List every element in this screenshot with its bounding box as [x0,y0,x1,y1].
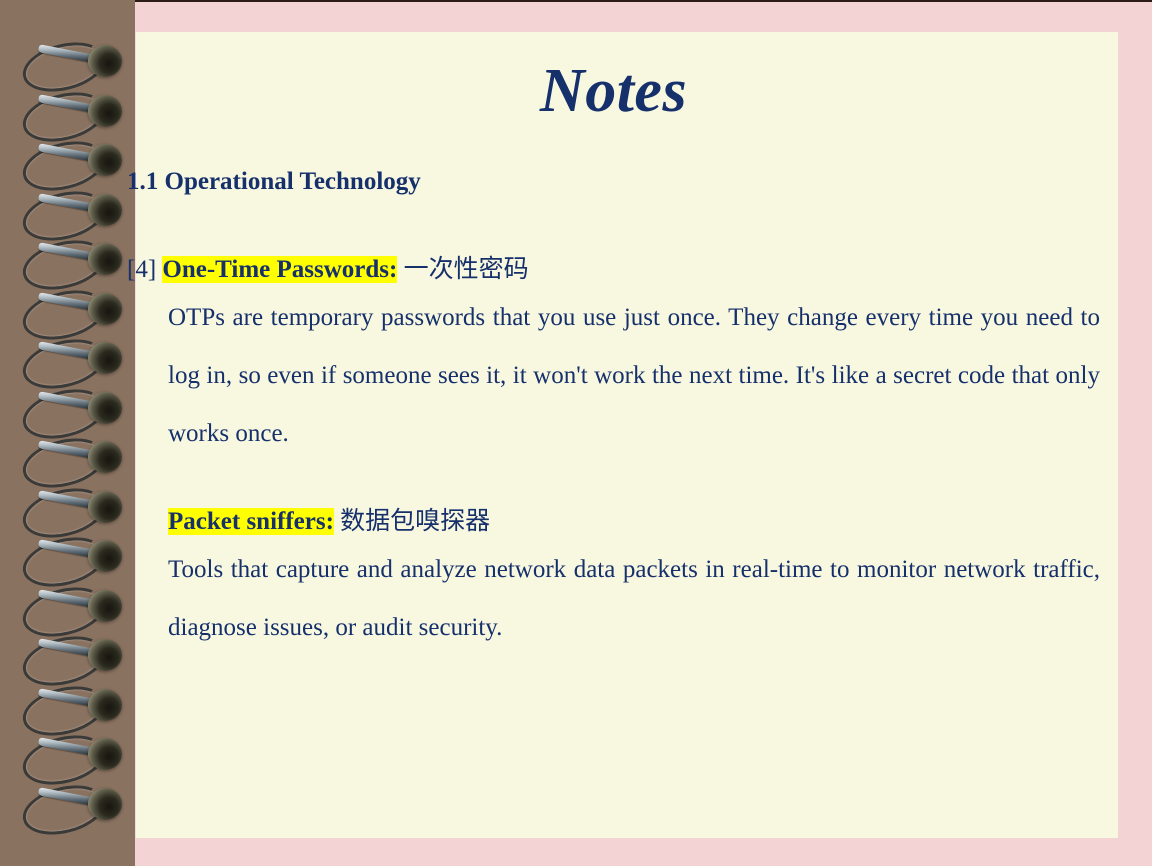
top-rule [0,0,1152,2]
term-entry-2: Packet sniffers: 数据包嗅探器 [127,463,1100,537]
section-heading: 1.1 Operational Technology [127,122,1100,196]
term-body-2: Tools that capture and analyze network d… [127,537,1100,657]
term-zh-1: 一次性密码 [404,256,529,283]
notebook-spine [0,0,135,866]
term-en-1: One-Time Passwords [162,256,389,283]
term-entry-1: [4] One-Time Passwords: 一次性密码 [127,196,1100,285]
notebook-slide: Notes 1.1 Operational Technology [4] One… [0,0,1152,866]
term-body-1: OTPs are temporary passwords that you us… [127,285,1100,463]
term-zh-2: 数据包嗅探器 [340,508,490,535]
term-separator-2: : [326,508,334,535]
term-en-2: Packet sniffers [168,508,326,535]
term-index-1: [4] [127,256,156,283]
term-separator-1: : [389,256,397,283]
page-title: Notes [127,32,1100,122]
slide-content: Notes 1.1 Operational Technology [4] One… [127,32,1100,838]
